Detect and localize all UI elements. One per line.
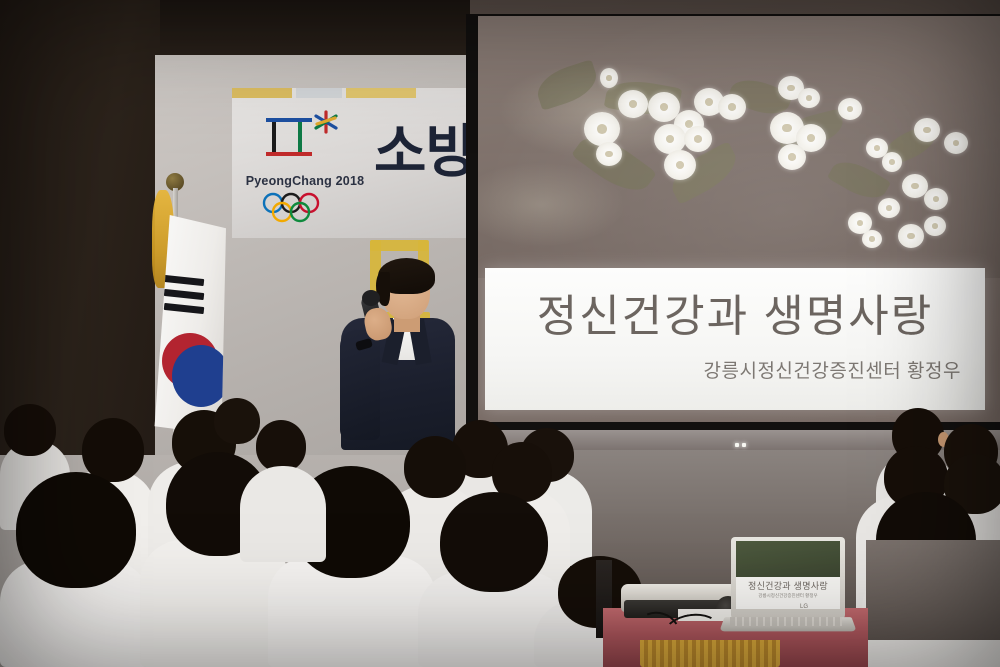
banner-stripe-gold-2: [346, 88, 416, 98]
laptop-slide-title: 정신건강과 생명사랑: [736, 579, 840, 592]
photo-scene: PyeongChang 2018 소방 FIRE: [0, 0, 1000, 667]
led-indicator-icon: [742, 443, 746, 447]
banner-stripe-gray: [296, 88, 342, 98]
pyeongchang-banner: PyeongChang 2018 소방: [232, 88, 477, 238]
fire-sign-text: FIRE: [296, 244, 302, 371]
slide-photo-blossoms: [478, 16, 1000, 278]
laptop-slide-photo: [736, 541, 840, 579]
right-wall-trim: [866, 540, 1000, 640]
banner-korean-text: 소방: [374, 124, 477, 181]
projection-screen: 정신건강과 생명사랑 강릉시정신건강증진센터 황정우: [478, 16, 1000, 422]
banner-stripe-gold: [232, 88, 292, 98]
laptop-slide-subtitle: 강릉시정신건강증진센터 황정우: [736, 593, 840, 599]
microphone-head-icon: [362, 290, 380, 306]
slide-text-panel: 정신건강과 생명사랑 강릉시정신건강증진센터 황정우: [485, 268, 985, 410]
led-indicator-icon: [735, 443, 739, 447]
slide-subtitle: 강릉시정신건강증진센터 황정우: [704, 356, 962, 383]
pyeongchang-logo-icon: [264, 110, 342, 172]
olympic-rings-icon: [260, 192, 348, 224]
taeguk-blue-half: [172, 345, 230, 407]
laptop-keyboard[interactable]: [730, 617, 842, 626]
slide-title: 정신건강과 생명사랑: [485, 280, 985, 344]
laptop-screen: 정신건강과 생명사랑 강릉시정신건강증진센터 황정우: [736, 541, 840, 609]
left-dark-wall-panel: [0, 0, 160, 470]
pyeongchang-wordmark: PyeongChang 2018: [240, 174, 370, 188]
laptop-brand-label: LG: [800, 604, 808, 610]
laptop-slide-text-panel: 정신건강과 생명사랑 강릉시정신건강증진센터 황정우: [736, 577, 840, 609]
